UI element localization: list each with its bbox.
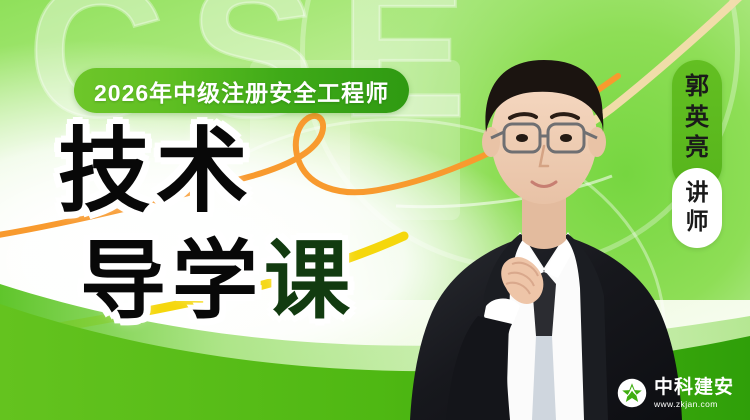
- title-line-secondary: 导学课: [80, 238, 356, 326]
- instructor-role-char-1: 师: [686, 207, 709, 236]
- eye-left: [516, 134, 528, 142]
- instructor-name-char-0: 郭: [685, 72, 709, 103]
- brand-logo-text: 中科建安 www.zkjan.com: [654, 378, 734, 409]
- title-block: 技术 导学课: [58, 126, 356, 326]
- brand-name: 中科建安: [654, 378, 734, 397]
- necktie-lower: [532, 336, 556, 420]
- course-category-badge[interactable]: 2026年中级注册安全工程师: [74, 68, 409, 113]
- instructor-portrait: [394, 20, 694, 420]
- instructor-name-char-1: 英: [685, 103, 709, 134]
- course-banner: CSE 2026年中级注册安全工程师 技术 导学课: [0, 0, 750, 420]
- brand-url: www.zkjan.com: [654, 400, 734, 409]
- eye-right: [560, 134, 572, 142]
- instructor-role-pill: 讲 师: [672, 168, 722, 248]
- ear-left: [482, 127, 500, 157]
- ear-right: [588, 127, 606, 157]
- title-secondary-head: 导学: [80, 233, 264, 329]
- title-line-primary: 技术: [58, 126, 356, 220]
- brand-logo[interactable]: 中科建安 www.zkjan.com: [617, 378, 734, 409]
- instructor-tag: 郭 英 亮 讲 师: [672, 60, 722, 248]
- instructor-role-char-0: 讲: [686, 178, 709, 207]
- title-secondary-tail: 课: [264, 233, 356, 329]
- instructor-name-char-2: 亮: [685, 133, 709, 164]
- star-mountain-icon: [617, 378, 647, 408]
- badge-label: 2026年中级注册安全工程师: [94, 74, 389, 108]
